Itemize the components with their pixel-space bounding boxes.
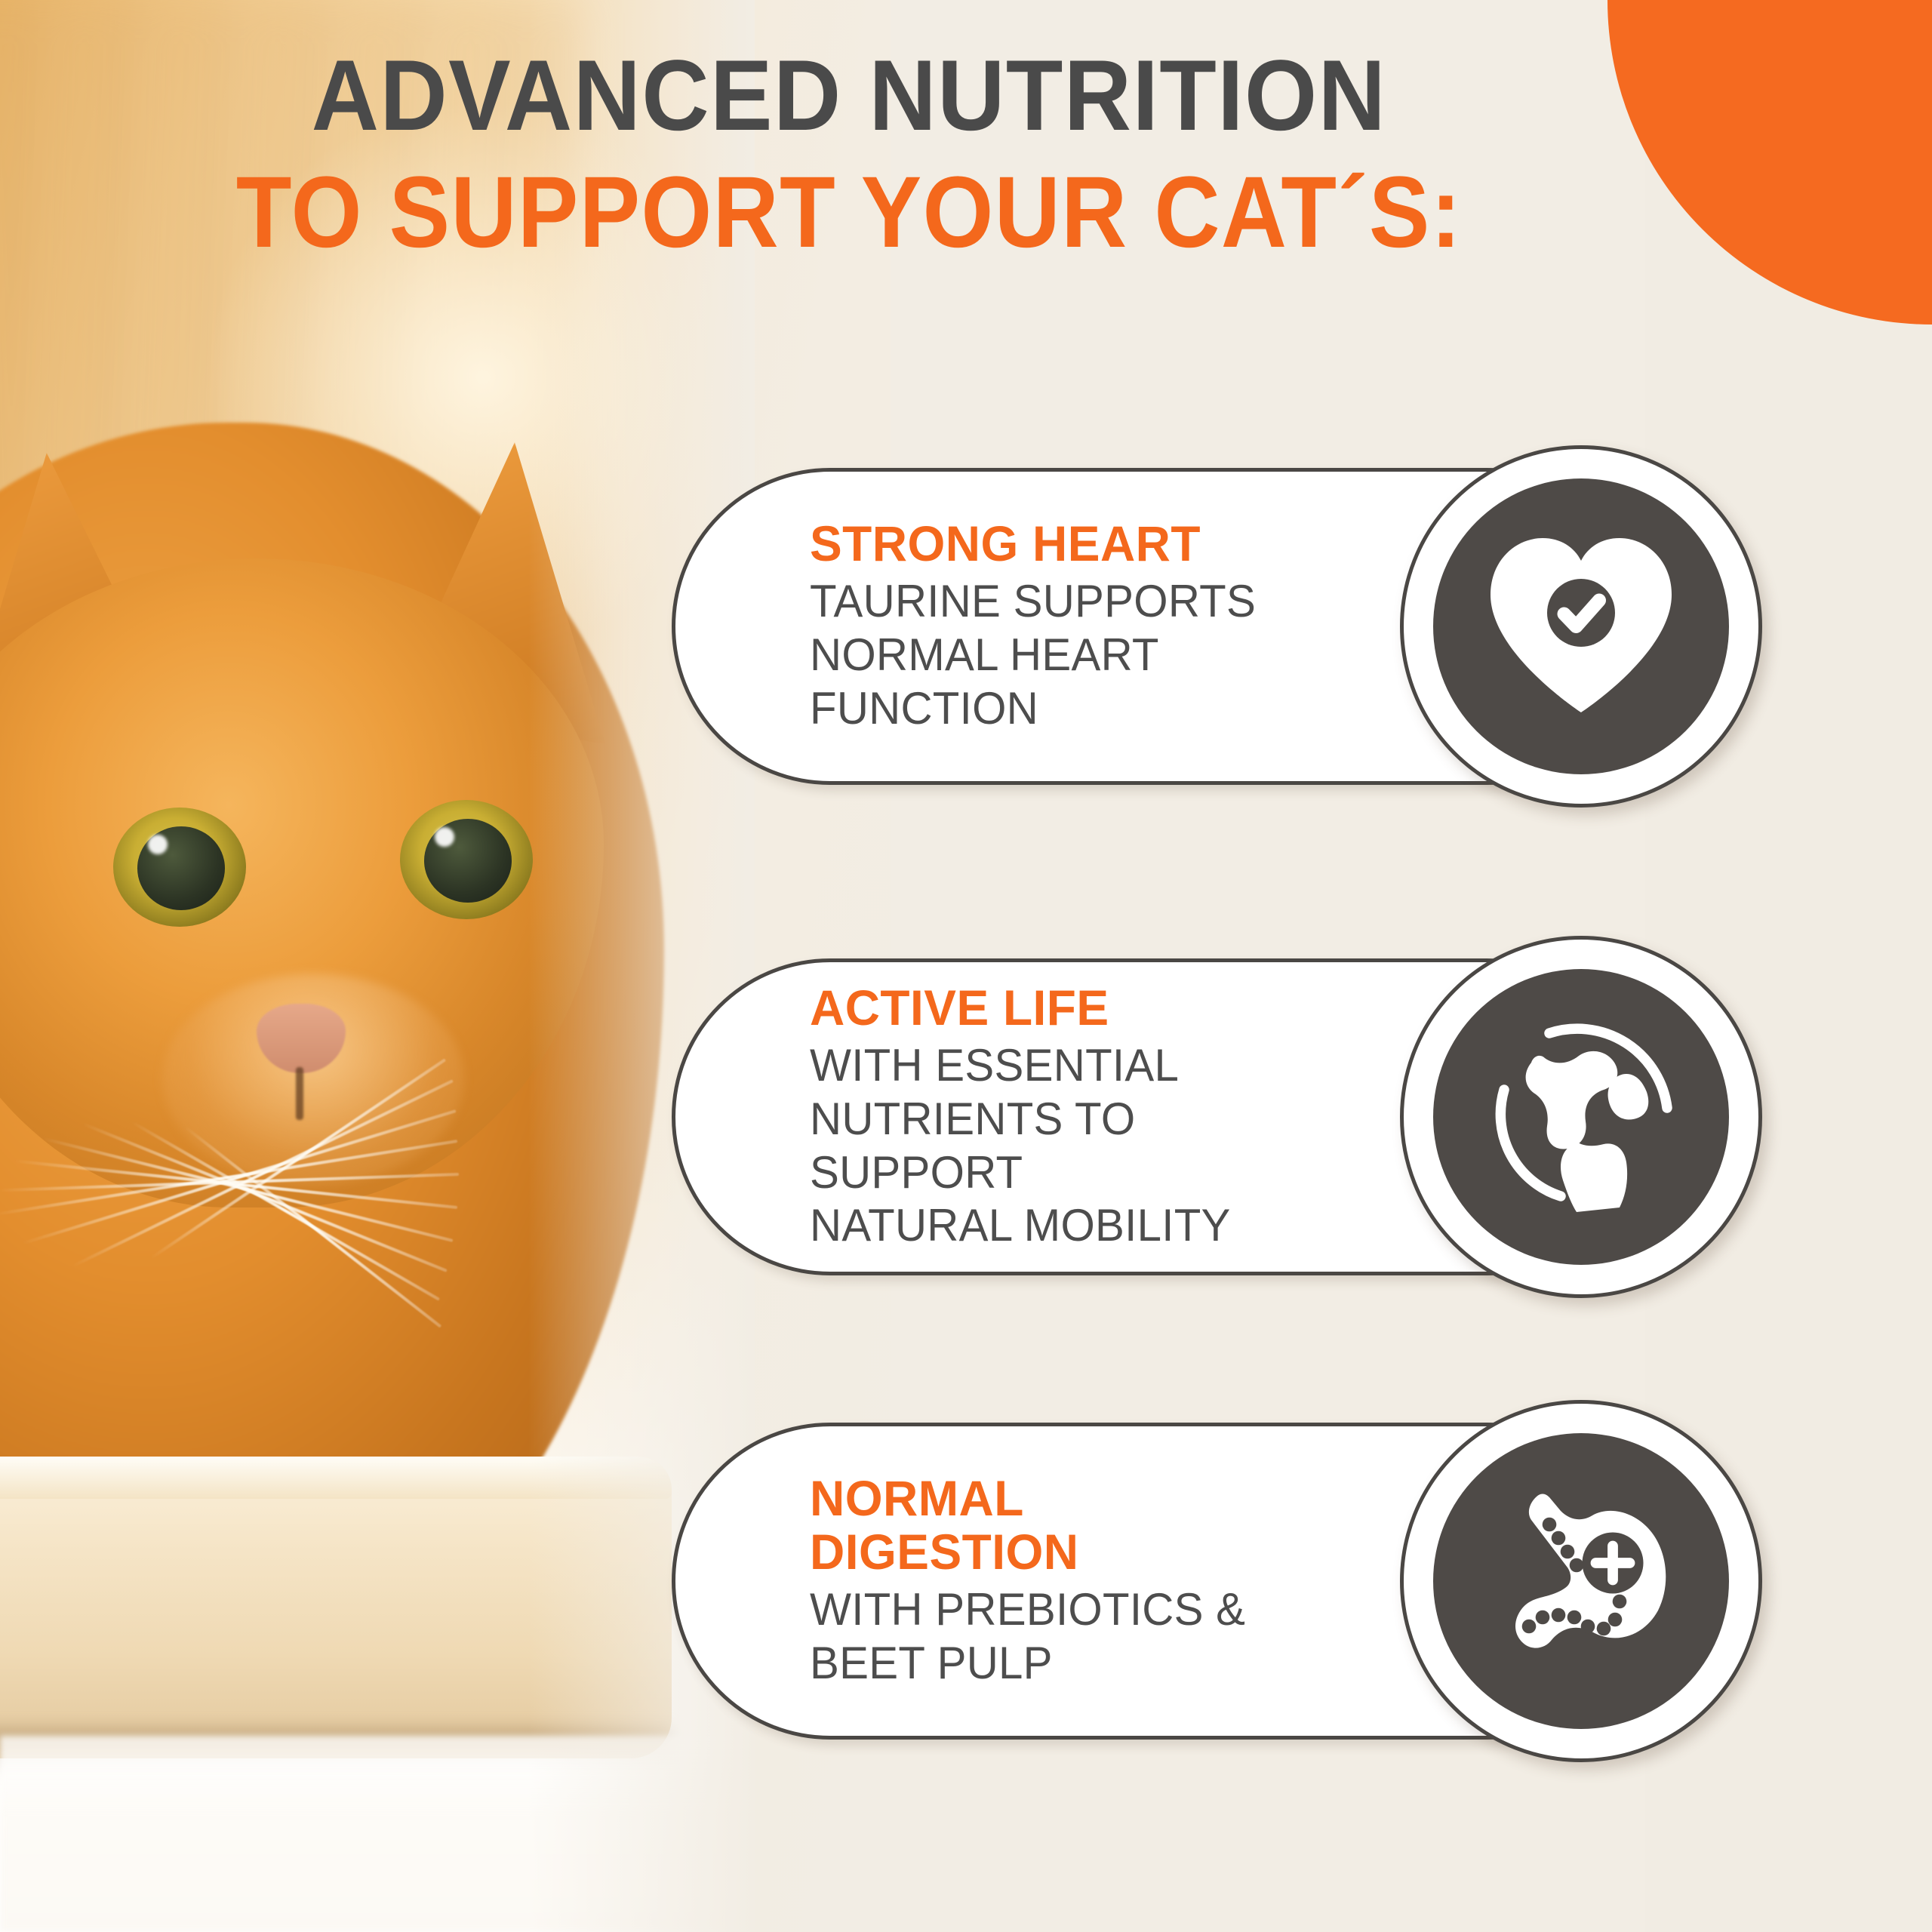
feature-heading: STRONG HEART: [810, 517, 1353, 571]
cat-philtrum: [296, 1067, 303, 1120]
cat-eye-highlight-right: [435, 827, 454, 847]
feature-heading: ACTIVE LIFE: [810, 981, 1353, 1035]
feature-body: WITH PREBIOTICS & BEET PULP: [810, 1583, 1353, 1690]
feature-heading: NORMAL DIGESTION: [810, 1472, 1353, 1580]
feature-badge-strong-heart[interactable]: [1400, 445, 1762, 808]
heart-check-icon: [1468, 513, 1694, 740]
feature-body: WITH ESSENTIAL NUTRIENTS TO SUPPORT NATU…: [810, 1039, 1353, 1253]
joint-bones-icon: [1468, 1004, 1694, 1230]
page-title-line1: ADVANCED NUTRITION: [60, 45, 1639, 148]
stomach-plus-icon: [1468, 1468, 1694, 1694]
feature-badge-normal-digestion[interactable]: [1400, 1400, 1762, 1762]
feature-body: TAURINE SUPPORTS NORMAL HEART FUNCTION: [810, 575, 1353, 735]
poster-header: ADVANCED NUTRITION TO SUPPORT YOUR CAT´S…: [0, 45, 1698, 264]
cat-eye-right: [400, 800, 533, 919]
page-title-line2: TO SUPPORT YOUR CAT´S:: [85, 162, 1614, 265]
poster-canvas: ADVANCED NUTRITION TO SUPPORT YOUR CAT´S…: [0, 0, 1932, 1932]
feature-badge-active-life[interactable]: [1400, 936, 1762, 1298]
badge-disc: [1433, 478, 1729, 774]
badge-disc: [1433, 969, 1729, 1265]
cat-eye-highlight-left: [148, 835, 168, 854]
cat-photo: [0, 0, 755, 1932]
badge-disc: [1433, 1433, 1729, 1729]
cat-eye-left: [113, 808, 246, 927]
